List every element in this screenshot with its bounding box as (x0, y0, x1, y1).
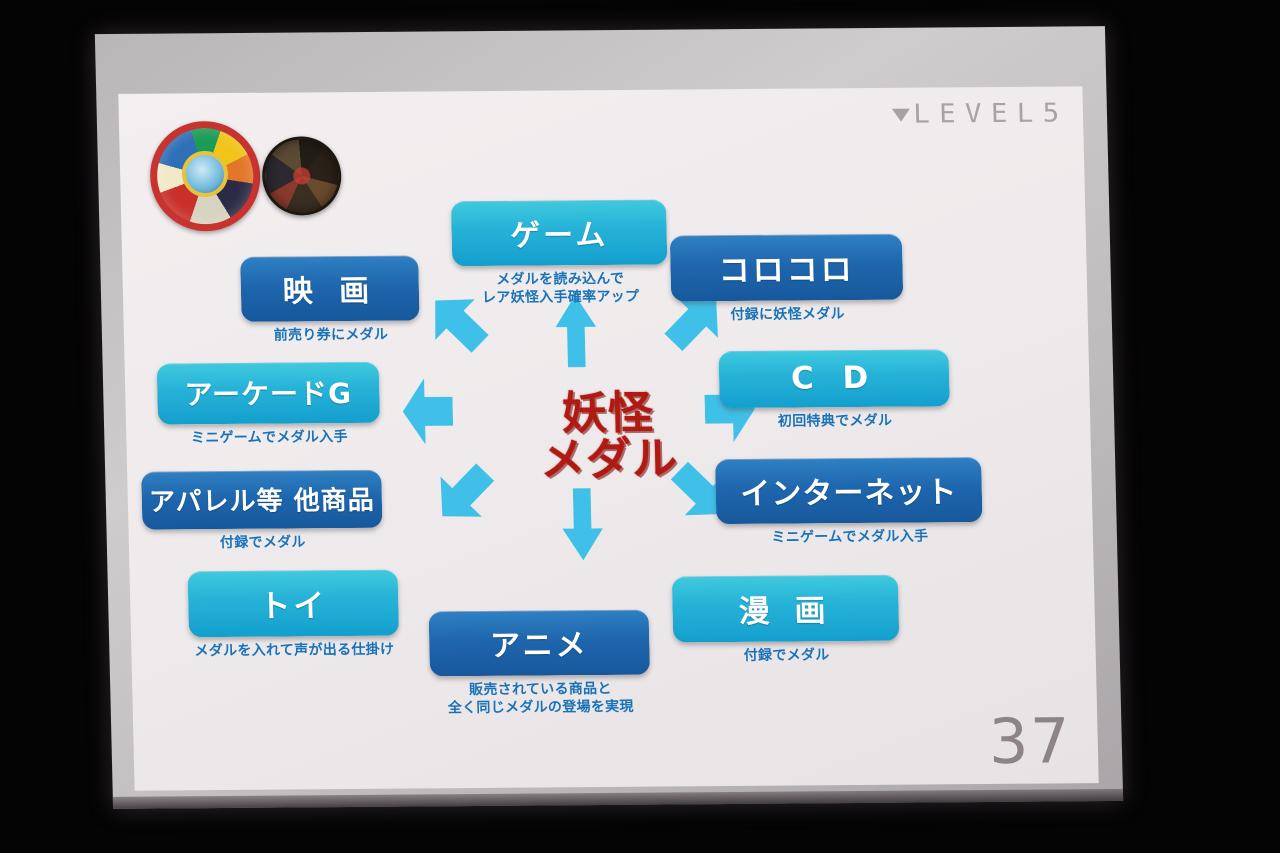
level5-logo: LEVEL5 (892, 98, 1066, 129)
node-movie-caption: 前売り券にメダル (242, 326, 420, 345)
node-movie-label[interactable]: 映 画 (240, 256, 420, 322)
node-apparel[interactable]: アパレル等 他商品 付録でメダル (141, 470, 383, 554)
node-cd-caption: 初回特典でメダル (720, 412, 950, 432)
node-game-caption: メダルを読み込んで レア妖怪入手確率アップ (453, 271, 669, 308)
arrow-down-left (420, 450, 508, 538)
node-corocoro-caption: 付録に妖怪メダル (671, 306, 903, 326)
yokai-medal-dark-image (261, 136, 342, 216)
yokai-medal-colorful-image (149, 121, 262, 232)
node-cd-label[interactable]: C D (718, 349, 949, 408)
node-arcade[interactable]: アーケードG ミニゲームでメダル入手 (157, 362, 381, 449)
node-anime-label[interactable]: アニメ (429, 610, 651, 677)
projection-screen: LEVEL5 妖怪 メダル (95, 26, 1123, 809)
arrow-down (560, 488, 606, 560)
node-internet-caption: ミニゲームでメダル入手 (717, 528, 983, 548)
level5-logo-text: LEVEL5 (913, 98, 1069, 129)
node-manga[interactable]: 漫 画 付録でメダル (672, 575, 900, 667)
node-manga-label[interactable]: 漫 画 (672, 575, 900, 643)
center-title-line-2: メダル (539, 436, 678, 484)
node-manga-caption: 付録でメダル (673, 647, 899, 667)
node-game[interactable]: ゲーム メダルを読み込んで レア妖怪入手確率アップ (451, 200, 669, 308)
node-apparel-label[interactable]: アパレル等 他商品 (141, 470, 382, 530)
node-corocoro-label[interactable]: コロコロ (670, 234, 904, 302)
node-anime[interactable]: アニメ 販売されている商品と 全く同じメダルの登場を実現 (429, 610, 652, 719)
node-toy[interactable]: トイ メダルを入れて声が出る仕掛け (188, 570, 400, 662)
projection-room: LEVEL5 妖怪 メダル (0, 0, 1280, 853)
node-movie[interactable]: 映 画 前売り券にメダル (240, 256, 420, 346)
node-cd[interactable]: C D 初回特典でメダル (718, 349, 950, 432)
node-toy-label[interactable]: トイ (188, 570, 400, 638)
node-arcade-label[interactable]: アーケードG (157, 362, 380, 425)
presentation-slide: LEVEL5 妖怪 メダル (118, 86, 1099, 790)
node-toy-caption: メダルを入れて声が出る仕掛け (189, 642, 399, 662)
node-apparel-caption: 付録でメダル (143, 534, 383, 554)
node-arcade-caption: ミニゲームでメダル入手 (158, 429, 380, 449)
arrow-left (402, 375, 454, 447)
center-title-line-1: 妖怪 (538, 389, 677, 437)
page-number: 37 (988, 704, 1073, 778)
node-game-label[interactable]: ゲーム (451, 200, 668, 267)
node-anime-caption: 販売されている商品と 全く同じメダルの登場を実現 (430, 681, 651, 719)
center-title: 妖怪 メダル (538, 389, 678, 484)
node-internet[interactable]: インターネット ミニゲームでメダル入手 (715, 457, 983, 548)
triangle-mark-icon (892, 108, 910, 121)
node-internet-label[interactable]: インターネット (715, 457, 983, 524)
node-corocoro[interactable]: コロコロ 付録に妖怪メダル (670, 234, 904, 326)
